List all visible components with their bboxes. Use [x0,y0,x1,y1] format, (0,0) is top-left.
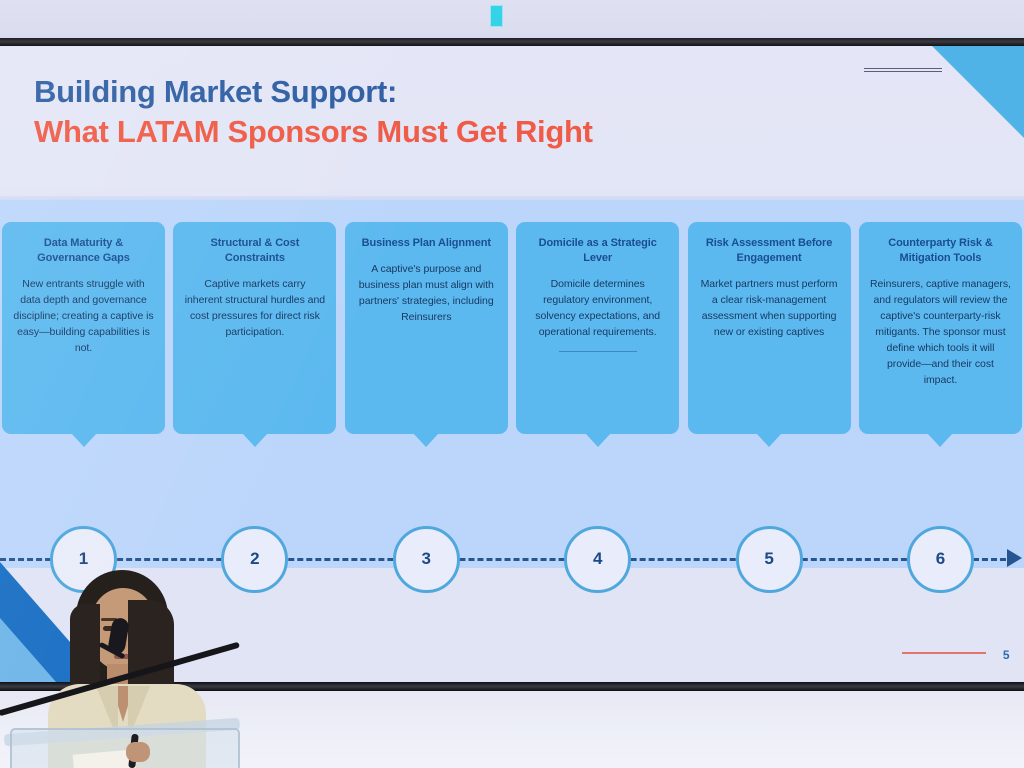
card-text: Market partners must perform a clear ris… [699,277,840,341]
card-row: Data Maturity & Governance Gaps New entr… [0,222,1024,444]
corner-triangle-bottom-left-secondary-icon [0,618,56,682]
slide-title-line-1: Building Market Support: [34,72,593,112]
card-body-4: Domicile as a Strategic Lever Domicile d… [516,222,679,434]
card-1: Data Maturity & Governance Gaps New entr… [2,222,165,444]
wall-above-screen [0,0,1024,40]
timeline-node-slot: 3 [345,516,508,602]
cyan-marker-icon [490,5,503,27]
card-title: Domicile as a Strategic Lever [527,236,668,266]
timeline: 1 2 3 4 5 6 [0,516,1024,602]
timeline-node-slot: 6 [859,516,1022,602]
timeline-node: 2 [221,526,288,593]
card-6: Counterparty Risk & Mitigation Tools Rei… [859,222,1022,444]
card-text: Domicile determines regulatory environme… [527,277,668,341]
timeline-node: 3 [393,526,460,593]
card-underline [559,351,637,352]
card-text: Reinsurers, captive managers, and regula… [870,277,1011,389]
timeline-node: 1 [50,526,117,593]
card-body-2: Structural & Cost Constraints Captive ma… [173,222,336,434]
card-title: Counterparty Risk & Mitigation Tools [870,236,1011,266]
card-text: New entrants struggle with data depth an… [13,277,154,357]
page-number: 5 [1003,648,1010,662]
timeline-node: 4 [564,526,631,593]
card-title: Business Plan Alignment [356,236,497,251]
card-4: Domicile as a Strategic Lever Domicile d… [516,222,679,444]
timeline-node-slot: 2 [173,516,336,602]
presentation-slide: 5 Building Market Support: What LATAM Sp… [0,46,1024,682]
timeline-node-slot: 4 [516,516,679,602]
slide-title: Building Market Support: What LATAM Spon… [34,72,593,151]
decorative-rule-top-right [864,68,942,72]
timeline-node-slot: 1 [2,516,165,602]
slide-title-line-2: What LATAM Sponsors Must Get Right [34,112,593,152]
wall-below-screen [0,691,1024,768]
corner-triangle-top-right-icon [932,46,1024,138]
screen-bezel-top [0,38,1024,46]
card-5: Risk Assessment Before Engagement Market… [688,222,851,444]
card-body-3: Business Plan Alignment A captive's purp… [345,222,508,434]
card-text: A captive's purpose and business plan mu… [356,262,497,326]
timeline-node: 6 [907,526,974,593]
screen-bezel-bottom [0,682,1024,691]
card-body-6: Counterparty Risk & Mitigation Tools Rei… [859,222,1022,434]
screenshot-stage: 5 Building Market Support: What LATAM Sp… [0,0,1024,768]
card-2: Structural & Cost Constraints Captive ma… [173,222,336,444]
card-3: Business Plan Alignment A captive's purp… [345,222,508,444]
timeline-node-row: 1 2 3 4 5 6 [0,516,1024,602]
card-body-5: Risk Assessment Before Engagement Market… [688,222,851,434]
card-title: Risk Assessment Before Engagement [699,236,840,266]
card-title: Structural & Cost Constraints [184,236,325,266]
timeline-node: 5 [736,526,803,593]
card-body-1: Data Maturity & Governance Gaps New entr… [2,222,165,434]
card-title: Data Maturity & Governance Gaps [13,236,154,266]
card-text: Captive markets carry inherent structura… [184,277,325,341]
timeline-node-slot: 5 [688,516,851,602]
decorative-rule-bottom-right [902,652,986,654]
